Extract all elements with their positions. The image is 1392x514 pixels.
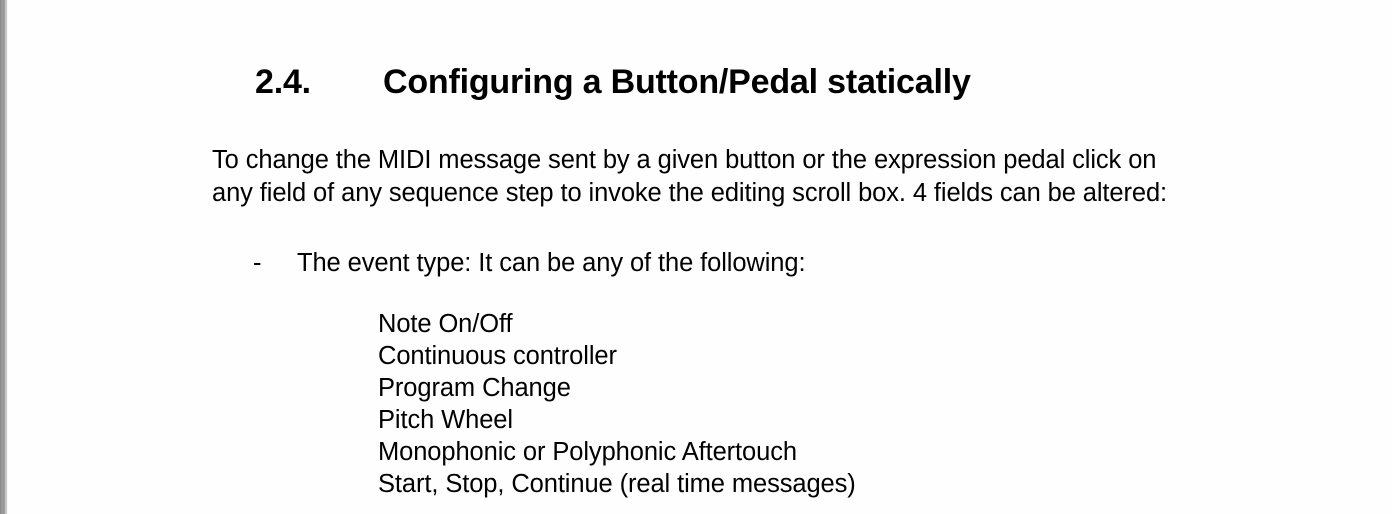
- event-type-list: Note On/Off Continuous controller Progra…: [378, 308, 856, 500]
- list-item: Start, Stop, Continue (real time message…: [378, 468, 856, 500]
- page-edge-shadow: [0, 0, 8, 514]
- section-heading: 2.4.Configuring a Button/Pedal staticall…: [255, 61, 971, 103]
- intro-paragraph: To change the MIDI message sent by a giv…: [212, 144, 1187, 210]
- list-item: Continuous controller: [378, 340, 856, 372]
- list-item: Program Change: [378, 372, 856, 404]
- bullet-item-event-type: -The event type: It can be any of the fo…: [253, 247, 805, 280]
- section-title: Configuring a Button/Pedal statically: [383, 63, 971, 101]
- list-item: Note On/Off: [378, 308, 856, 340]
- section-number: 2.4.: [255, 61, 383, 103]
- bullet-item-label: The event type: It can be any of the fol…: [297, 249, 805, 277]
- list-item: Monophonic or Polyphonic Aftertouch: [378, 436, 856, 468]
- list-item: Pitch Wheel: [378, 404, 856, 436]
- document-page: 2.4.Configuring a Button/Pedal staticall…: [0, 0, 1392, 514]
- dash-bullet-icon: -: [253, 247, 297, 280]
